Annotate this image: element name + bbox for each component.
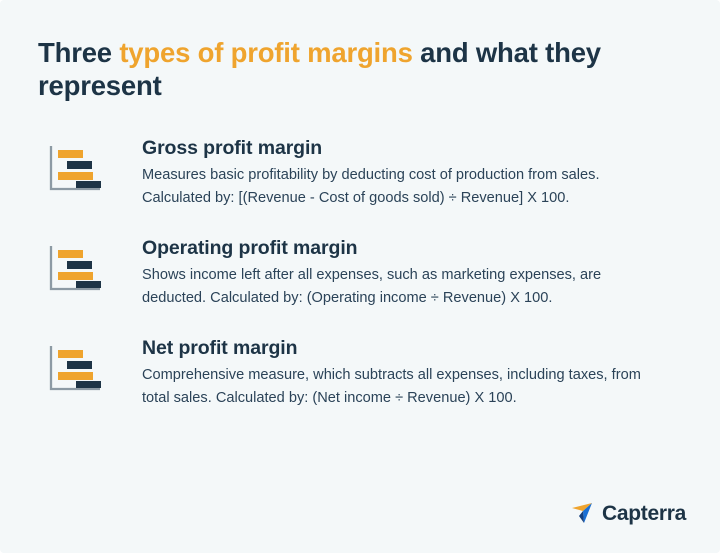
bar-chart-icon xyxy=(46,344,104,398)
bar-chart-icon xyxy=(46,144,104,198)
page-title: Three types of profit margins and what t… xyxy=(38,36,658,102)
text-container: Operating profit margin Shows income lef… xyxy=(108,236,720,310)
section-heading: Net profit margin xyxy=(142,336,684,360)
title-block: Three types of profit margins and what t… xyxy=(38,36,658,102)
section-heading: Gross profit margin xyxy=(142,136,684,160)
section-heading: Operating profit margin xyxy=(142,236,684,260)
infographic-card: Three types of profit margins and what t… xyxy=(0,0,720,553)
capterra-arrow-icon xyxy=(571,501,597,525)
section-body: Measures basic profitability by deductin… xyxy=(142,164,647,210)
icon-container xyxy=(46,236,108,298)
icon-container xyxy=(46,136,108,198)
bar-chart-icon xyxy=(46,244,104,298)
title-part-1: Three xyxy=(38,37,119,68)
text-container: Gross profit margin Measures basic profi… xyxy=(108,136,720,210)
title-accent: types of profit margins xyxy=(119,37,412,68)
capterra-logo: Capterra xyxy=(571,501,686,525)
section-body: Comprehensive measure, which subtracts a… xyxy=(142,364,647,410)
section-operating-profit-margin: Operating profit margin Shows income lef… xyxy=(0,236,720,310)
section-gross-profit-margin: Gross profit margin Measures basic profi… xyxy=(0,136,720,210)
section-net-profit-margin: Net profit margin Comprehensive measure,… xyxy=(0,336,720,410)
icon-container xyxy=(46,336,108,398)
text-container: Net profit margin Comprehensive measure,… xyxy=(108,336,720,410)
capterra-logo-text: Capterra xyxy=(602,503,686,524)
sections-list: Gross profit margin Measures basic profi… xyxy=(0,136,720,436)
section-body: Shows income left after all expenses, su… xyxy=(142,264,647,310)
